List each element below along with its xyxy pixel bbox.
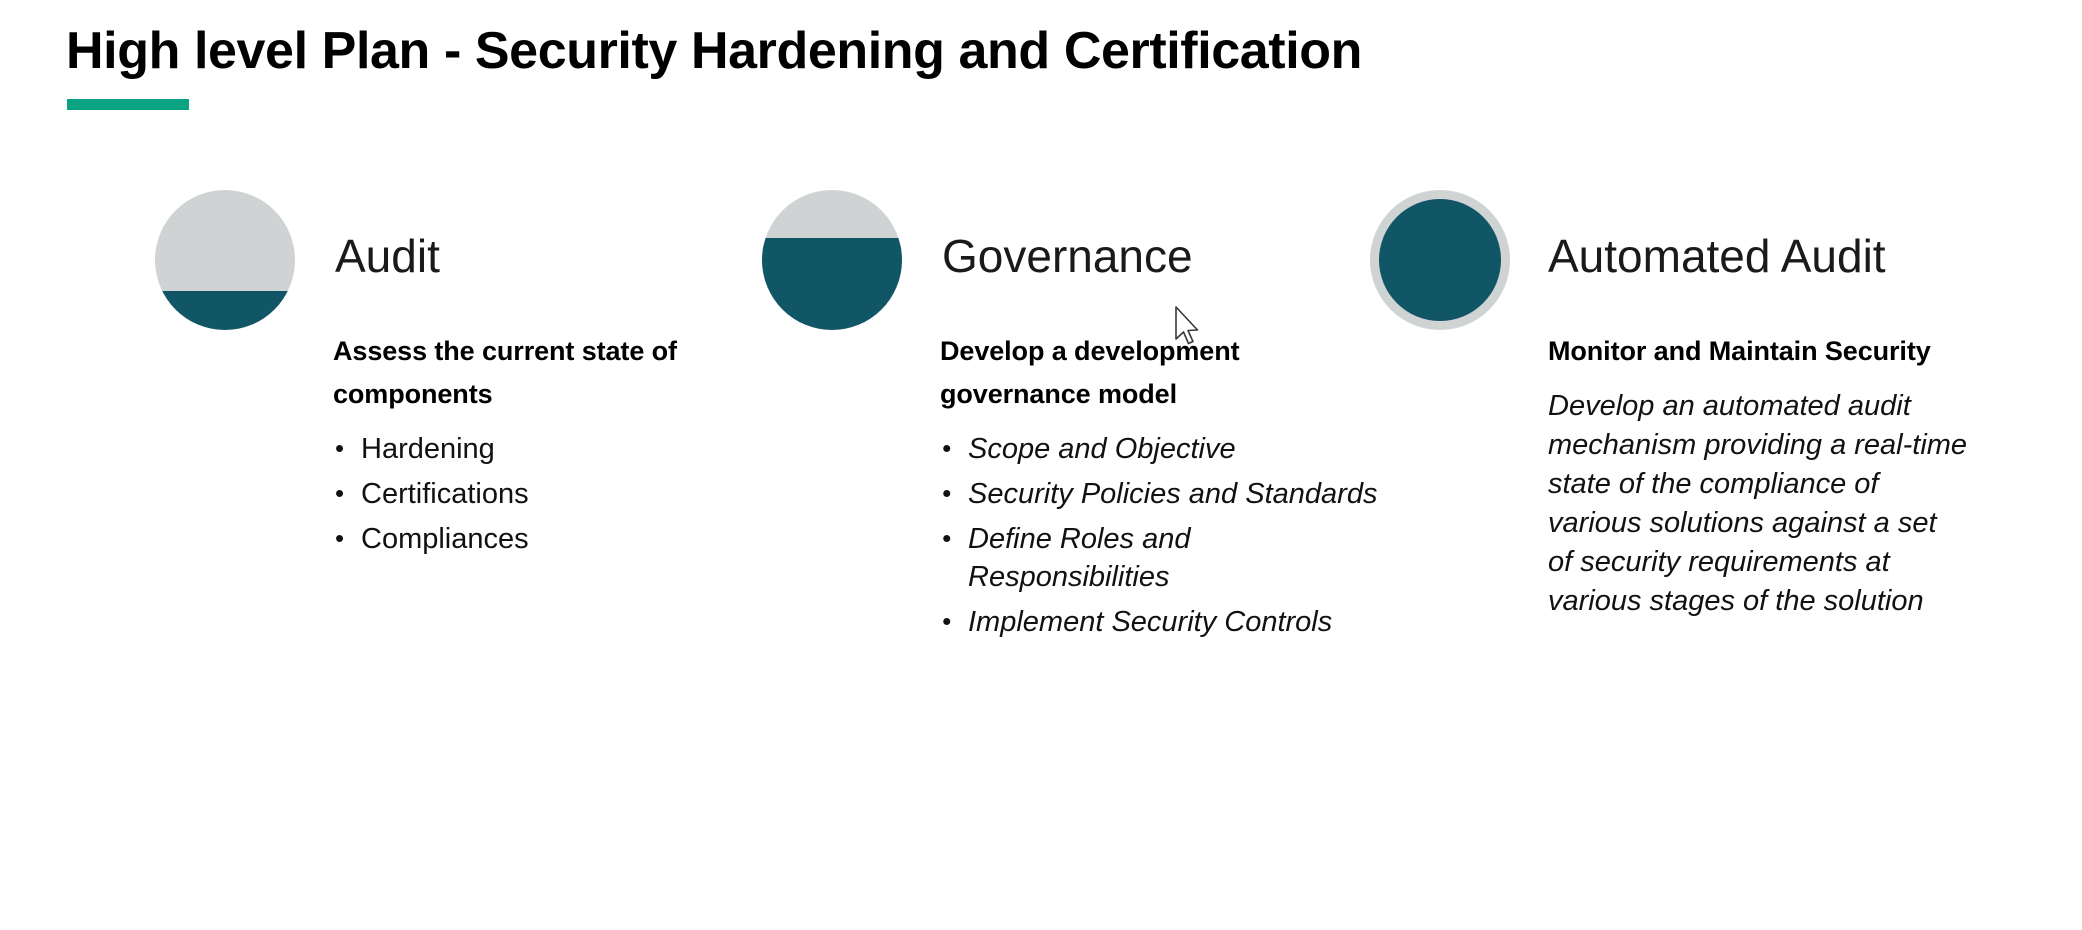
- circle-fill: [1379, 199, 1501, 321]
- column-automated-audit: Automated Audit Monitor and Maintain Sec…: [1370, 190, 2030, 340]
- column-label-audit: Audit: [335, 228, 440, 284]
- bullet-list-governance: Scope and ObjectiveSecurity Policies and…: [940, 430, 1380, 641]
- circle-row-automated-audit: Automated Audit: [1370, 190, 2030, 340]
- circle-row-audit: Audit: [155, 190, 775, 340]
- column-heading-automated-audit: Monitor and Maintain Security: [1548, 330, 1968, 373]
- column-heading-audit: Assess the current state of components: [333, 330, 773, 416]
- bullet-list-audit: HardeningCertificationsCompliances: [333, 430, 773, 558]
- column-body-audit: Assess the current state of components H…: [333, 330, 773, 565]
- column-paragraph-automated-audit: Develop an automated audit mechanism pro…: [1548, 387, 1968, 621]
- column-governance: Governance Develop a development governa…: [762, 190, 1382, 340]
- list-item: Define Roles and Responsibilities: [940, 520, 1380, 596]
- columns-container: Audit Assess the current state of compon…: [0, 0, 2082, 930]
- list-item: Scope and Objective: [940, 430, 1380, 468]
- list-item: Compliances: [333, 520, 773, 558]
- circle-fill: [155, 291, 295, 330]
- progress-circle-full-icon: [1370, 190, 1510, 330]
- column-heading-governance: Develop a development governance model: [940, 330, 1380, 416]
- progress-circle-two-thirds-icon: [762, 190, 902, 330]
- list-item: Certifications: [333, 475, 773, 513]
- list-item: Hardening: [333, 430, 773, 468]
- circle-fill: [762, 238, 902, 330]
- column-label-automated-audit: Automated Audit: [1548, 228, 1886, 284]
- circle-row-governance: Governance: [762, 190, 1382, 340]
- column-body-automated-audit: Monitor and Maintain Security Develop an…: [1548, 330, 1968, 621]
- slide-canvas: High level Plan - Security Hardening and…: [0, 0, 2082, 930]
- column-audit: Audit Assess the current state of compon…: [155, 190, 775, 340]
- column-label-governance: Governance: [942, 228, 1193, 284]
- list-item: Security Policies and Standards: [940, 475, 1380, 513]
- column-body-governance: Develop a development governance model S…: [940, 330, 1380, 648]
- progress-circle-one-third-icon: [155, 190, 295, 330]
- list-item: Implement Security Controls: [940, 603, 1380, 641]
